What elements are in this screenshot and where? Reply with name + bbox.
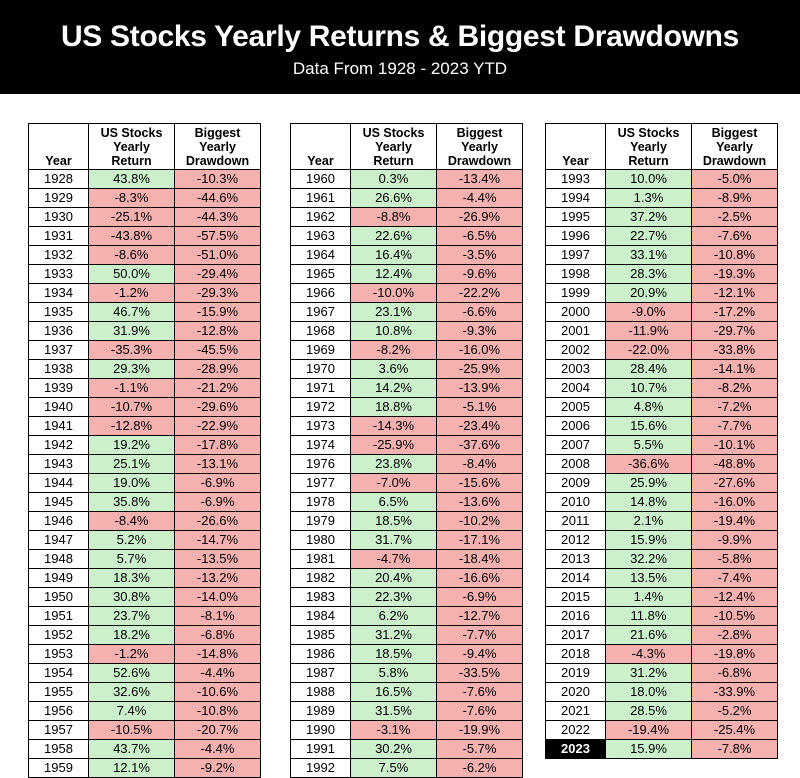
year-cell: 2013 [546,550,606,569]
yearly-return-cell: -1.2% [89,284,175,303]
year-cell: 1981 [291,550,351,569]
returns-table-3: YearUS StocksYearlyReturnBiggestYearlyDr… [545,123,778,759]
year-cell: 1970 [291,360,351,379]
year-cell: 2008 [546,455,606,474]
biggest-drawdown-cell: -22.2% [437,284,523,303]
yearly-return-cell: 46.7% [89,303,175,322]
yearly-return-cell: 12.4% [351,265,437,284]
header-line: Yearly [89,140,174,154]
table-row: 20054.8%-7.2% [546,398,778,417]
year-cell: 1974 [291,436,351,455]
year-cell: 1983 [291,588,351,607]
year-cell: 1980 [291,531,351,550]
page-title: US Stocks Yearly Returns & Biggest Drawd… [61,20,739,53]
table-row: 197918.5%-10.2% [291,512,523,531]
table-row: 1990-3.1%-19.9% [291,721,523,740]
yearly-return-cell: -8.2% [351,341,437,360]
year-cell: 1953 [29,645,89,664]
yearly-return-cell: -35.3% [89,341,175,360]
year-cell: 2014 [546,569,606,588]
yearly-return-cell: -36.6% [606,455,692,474]
year-cell: 1946 [29,512,89,531]
biggest-drawdown-cell: -10.8% [175,702,261,721]
year-cell: 2015 [546,588,606,607]
biggest-drawdown-cell: -25.9% [437,360,523,379]
year-cell: 1956 [29,702,89,721]
yearly-return-cell: 33.1% [606,246,692,265]
year-cell: 1979 [291,512,351,531]
yearly-return-cell: 22.6% [351,227,437,246]
year-cell: 1957 [29,721,89,740]
yearly-return-cell: 16.5% [351,683,437,702]
table-row: 1930-25.1%-44.3% [29,208,261,227]
biggest-drawdown-cell: -5.1% [437,398,523,417]
biggest-drawdown-cell: -12.7% [437,607,523,626]
table-row: 201931.2%-6.8% [546,664,778,683]
biggest-drawdown-cell: -9.6% [437,265,523,284]
biggest-drawdown-cell: -8.2% [692,379,778,398]
biggest-drawdown-cell: -26.6% [175,512,261,531]
table-row: 1932-8.6%-51.0% [29,246,261,265]
biggest-drawdown-cell: -7.8% [692,740,778,759]
yearly-return-cell: 23.8% [351,455,437,474]
biggest-drawdown-cell: -7.6% [437,702,523,721]
header-banner: US Stocks Yearly Returns & Biggest Drawd… [0,0,800,94]
table-row: 193829.3%-28.9% [29,360,261,379]
year-cell: 1973 [291,417,351,436]
year-cell: 1932 [29,246,89,265]
biggest-drawdown-cell: -20.7% [175,721,261,740]
biggest-drawdown-cell: -9.9% [692,531,778,550]
year-cell: 1949 [29,569,89,588]
yearly-return-cell: -25.9% [351,436,437,455]
biggest-drawdown-cell: -26.9% [437,208,523,227]
yearly-return-cell: 15.9% [606,740,692,759]
yearly-return-cell: 29.3% [89,360,175,379]
yearly-return-cell: 5.8% [351,664,437,683]
year-cell: 2005 [546,398,606,417]
biggest-drawdown-cell: -10.6% [175,683,261,702]
yearly-return-cell: 19.0% [89,474,175,493]
biggest-drawdown-cell: -14.1% [692,360,778,379]
biggest-drawdown-cell: -4.4% [175,740,261,759]
table-row: 198322.3%-6.9% [291,588,523,607]
biggest-drawdown-cell: -16.0% [437,341,523,360]
header-line: Biggest [175,126,260,140]
year-cell: 2000 [546,303,606,322]
table-row: 198220.4%-16.6% [291,569,523,588]
biggest-drawdown-cell: -7.6% [692,227,778,246]
year-cell: 1984 [291,607,351,626]
table-row: 20112.1%-19.4% [546,512,778,531]
table-row: 2018-4.3%-19.8% [546,645,778,664]
yearly-return-cell: 22.7% [606,227,692,246]
yearly-return-cell: 43.7% [89,740,175,759]
year-cell: 1931 [29,227,89,246]
yearly-return-cell: 18.3% [89,569,175,588]
yearly-return-cell: 7.4% [89,702,175,721]
biggest-drawdown-cell: -16.6% [437,569,523,588]
table-row: 193631.9%-12.8% [29,322,261,341]
table-row: 198618.5%-9.4% [291,645,523,664]
biggest-drawdown-cell: -10.8% [692,246,778,265]
table-header-row: YearUS StocksYearlyReturnBiggestYearlyDr… [546,124,778,170]
year-cell: 2020 [546,683,606,702]
biggest-drawdown-cell: -9.4% [437,645,523,664]
yearly-return-cell: 20.9% [606,284,692,303]
biggest-drawdown-cell: -19.9% [437,721,523,740]
year-cell: 1929 [29,189,89,208]
yearly-return-cell: -22.0% [606,341,692,360]
biggest-drawdown-cell: -5.2% [692,702,778,721]
yearly-return-cell: 19.2% [89,436,175,455]
table-row: 19567.4%-10.8% [29,702,261,721]
table-row: 192843.8%-10.3% [29,170,261,189]
year-cell: 1965 [291,265,351,284]
yearly-return-cell: 1.4% [606,588,692,607]
yearly-return-cell: -11.9% [606,322,692,341]
biggest-drawdown-cell: -5.7% [437,740,523,759]
biggest-drawdown-cell: -10.2% [437,512,523,531]
year-cell: 2003 [546,360,606,379]
yearly-return-cell: 32.2% [606,550,692,569]
year-cell: 1948 [29,550,89,569]
year-cell: 1962 [291,208,351,227]
biggest-drawdown-cell: -23.4% [437,417,523,436]
yearly-return-cell: -10.5% [89,721,175,740]
year-cell: 1966 [291,284,351,303]
biggest-drawdown-cell: -5.8% [692,550,778,569]
table-row: 193350.0%-29.4% [29,265,261,284]
biggest-drawdown-cell: -6.8% [175,626,261,645]
table-header-row: YearUS StocksYearlyReturnBiggestYearlyDr… [29,124,261,170]
biggest-drawdown-cell: -28.9% [175,360,261,379]
year-cell: 2012 [546,531,606,550]
table-row: 198031.7%-17.1% [291,531,523,550]
table-row: 1941-12.8%-22.9% [29,417,261,436]
biggest-drawdown-cell: -7.4% [692,569,778,588]
year-cell: 1930 [29,208,89,227]
table-row: 196810.8%-9.3% [291,322,523,341]
returns-table-2: YearUS StocksYearlyReturnBiggestYearlyDr… [290,123,523,778]
table-row: 198816.5%-7.6% [291,683,523,702]
table-row: 195912.1%-9.2% [29,759,261,778]
tables-area: YearUS StocksYearlyReturnBiggestYearlyDr… [0,94,800,768]
table-row: 20151.4%-12.4% [546,588,778,607]
table-row: 1940-10.7%-29.6% [29,398,261,417]
year-cell: 1988 [291,683,351,702]
year-cell: 2010 [546,493,606,512]
yearly-return-cell: 23.1% [351,303,437,322]
header-line: Return [606,154,691,168]
table-row: 200410.7%-8.2% [546,379,778,398]
table-row: 19941.3%-8.9% [546,189,778,208]
table-row: 1969-8.2%-16.0% [291,341,523,360]
yearly-return-cell: 1.3% [606,189,692,208]
biggest-drawdown-cell: -2.8% [692,626,778,645]
year-cell: 1997 [546,246,606,265]
table-row: 19846.2%-12.7% [291,607,523,626]
table-row: 19600.3%-13.4% [291,170,523,189]
biggest-drawdown-cell: -4.4% [437,189,523,208]
yearly-return-cell: 6.5% [351,493,437,512]
year-cell: 1989 [291,702,351,721]
biggest-drawdown-cell: -44.6% [175,189,261,208]
yearly-return-cell: 7.5% [351,759,437,778]
column-header-yearly-return: US StocksYearlyReturn [606,124,692,170]
biggest-drawdown-cell: -12.1% [692,284,778,303]
year-cell: 1971 [291,379,351,398]
table-row: 202128.5%-5.2% [546,702,778,721]
biggest-drawdown-cell: -13.9% [437,379,523,398]
yearly-return-cell: 28.4% [606,360,692,379]
year-cell: 1952 [29,626,89,645]
biggest-drawdown-cell: -13.5% [175,550,261,569]
table-row: 199130.2%-5.7% [291,740,523,759]
yearly-return-cell: 16.4% [351,246,437,265]
year-cell: 1961 [291,189,351,208]
yearly-return-cell: -12.8% [89,417,175,436]
table-row: 198931.5%-7.6% [291,702,523,721]
biggest-drawdown-cell: -14.8% [175,645,261,664]
table-row: 1931-43.8%-57.5% [29,227,261,246]
table-row: 199733.1%-10.8% [546,246,778,265]
biggest-drawdown-cell: -33.5% [437,664,523,683]
yearly-return-cell: 30.2% [351,740,437,759]
biggest-drawdown-cell: -19.3% [692,265,778,284]
yearly-return-cell: 15.9% [606,531,692,550]
table-row: 197218.8%-5.1% [291,398,523,417]
table-row: 194535.8%-6.9% [29,493,261,512]
biggest-drawdown-cell: -29.7% [692,322,778,341]
year-cell: 2001 [546,322,606,341]
header-line: Drawdown [692,154,777,168]
year-cell: 1945 [29,493,89,512]
yearly-return-cell: 31.2% [351,626,437,645]
year-cell: 2007 [546,436,606,455]
table-row: 20075.5%-10.1% [546,436,778,455]
year-cell: 2016 [546,607,606,626]
year-cell: 2011 [546,512,606,531]
biggest-drawdown-cell: -7.7% [692,417,778,436]
yearly-return-cell: 18.5% [351,512,437,531]
year-cell: 1959 [29,759,89,778]
table-row: 199920.9%-12.1% [546,284,778,303]
year-cell: 1986 [291,645,351,664]
table-row: 196512.4%-9.6% [291,265,523,284]
yearly-return-cell: 37.2% [606,208,692,227]
biggest-drawdown-cell: -9.3% [437,322,523,341]
year-cell: 1999 [546,284,606,303]
year-cell-current: 2023 [546,740,606,759]
header-line: Biggest [437,126,522,140]
biggest-drawdown-cell: -15.6% [437,474,523,493]
yearly-return-cell: -10.0% [351,284,437,303]
table-row: 19475.2%-14.7% [29,531,261,550]
biggest-drawdown-cell: -13.1% [175,455,261,474]
yearly-return-cell: -8.3% [89,189,175,208]
table-row: 199622.7%-7.6% [546,227,778,246]
column-header-yearly-return: US StocksYearlyReturn [89,124,175,170]
yearly-return-cell: 10.7% [606,379,692,398]
yearly-return-cell: 6.2% [351,607,437,626]
yearly-return-cell: 11.8% [606,607,692,626]
biggest-drawdown-cell: -48.8% [692,455,778,474]
table-row: 1946-8.4%-26.6% [29,512,261,531]
biggest-drawdown-cell: -45.5% [175,341,261,360]
yearly-return-cell: -25.1% [89,208,175,227]
yearly-return-cell: 31.2% [606,664,692,683]
year-cell: 1976 [291,455,351,474]
table-row: 196416.4%-3.5% [291,246,523,265]
year-cell: 1944 [29,474,89,493]
year-cell: 1958 [29,740,89,759]
biggest-drawdown-cell: -25.4% [692,721,778,740]
biggest-drawdown-cell: -7.7% [437,626,523,645]
table-row: 195452.6%-4.4% [29,664,261,683]
table-row: 19875.8%-33.5% [291,664,523,683]
yearly-return-cell: 14.8% [606,493,692,512]
table-row: 1934-1.2%-29.3% [29,284,261,303]
table-row: 193546.7%-15.9% [29,303,261,322]
table-row: 1974-25.9%-37.6% [291,436,523,455]
table-row: 194219.2%-17.8% [29,436,261,455]
yearly-return-cell: -8.6% [89,246,175,265]
biggest-drawdown-cell: -12.4% [692,588,778,607]
biggest-drawdown-cell: -13.6% [437,493,523,512]
table-row: 201413.5%-7.4% [546,569,778,588]
yearly-return-cell: -19.4% [606,721,692,740]
table-row: 194918.3%-13.2% [29,569,261,588]
table-row: 200925.9%-27.6% [546,474,778,493]
column-header-year: Year [29,124,89,170]
biggest-drawdown-cell: -6.2% [437,759,523,778]
yearly-return-cell: 26.6% [351,189,437,208]
yearly-return-cell: 3.6% [351,360,437,379]
table-row: 200615.6%-7.7% [546,417,778,436]
biggest-drawdown-cell: -3.5% [437,246,523,265]
year-cell: 1963 [291,227,351,246]
yearly-return-cell: 22.3% [351,588,437,607]
yearly-return-cell: 31.5% [351,702,437,721]
yearly-return-cell: 43.8% [89,170,175,189]
yearly-return-cell: 32.6% [89,683,175,702]
year-cell: 1964 [291,246,351,265]
year-cell: 1933 [29,265,89,284]
yearly-return-cell: 18.5% [351,645,437,664]
yearly-return-cell: 23.7% [89,607,175,626]
table-row: 2000-9.0%-17.2% [546,303,778,322]
yearly-return-cell: -1.2% [89,645,175,664]
yearly-return-cell: 4.8% [606,398,692,417]
biggest-drawdown-cell: -29.4% [175,265,261,284]
year-cell: 1993 [546,170,606,189]
year-cell: 2006 [546,417,606,436]
yearly-return-cell: -1.1% [89,379,175,398]
biggest-drawdown-cell: -8.9% [692,189,778,208]
year-cell: 2022 [546,721,606,740]
table-row: 195532.6%-10.6% [29,683,261,702]
table-row: 1981-4.7%-18.4% [291,550,523,569]
biggest-drawdown-cell: -5.0% [692,170,778,189]
table-row: 1962-8.8%-26.9% [291,208,523,227]
table-row: 194419.0%-6.9% [29,474,261,493]
year-cell: 1994 [546,189,606,208]
yearly-return-cell: 25.9% [606,474,692,493]
year-cell: 1998 [546,265,606,284]
column-header-biggest-drawdown: BiggestYearlyDrawdown [437,124,523,170]
header-line: Drawdown [437,154,522,168]
yearly-return-cell: 21.6% [606,626,692,645]
biggest-drawdown-cell: -22.9% [175,417,261,436]
yearly-return-cell: 14.2% [351,379,437,398]
biggest-drawdown-cell: -8.4% [437,455,523,474]
yearly-return-cell: 52.6% [89,664,175,683]
biggest-drawdown-cell: -6.9% [175,493,261,512]
year-cell: 2004 [546,379,606,398]
table-row: 2002-22.0%-33.8% [546,341,778,360]
table-row: 2022-19.4%-25.4% [546,721,778,740]
biggest-drawdown-cell: -10.5% [692,607,778,626]
header-line: Yearly [692,140,777,154]
year-cell: 1969 [291,341,351,360]
yearly-return-cell: -7.0% [351,474,437,493]
yearly-return-cell: 13.5% [606,569,692,588]
column-header-biggest-drawdown: BiggestYearlyDrawdown [175,124,261,170]
year-cell: 1982 [291,569,351,588]
table-row: 201721.6%-2.8% [546,626,778,645]
year-cell: 1954 [29,664,89,683]
year-cell: 1943 [29,455,89,474]
yearly-return-cell: 25.1% [89,455,175,474]
year-cell: 1950 [29,588,89,607]
table-row: 198531.2%-7.7% [291,626,523,645]
biggest-drawdown-cell: -27.6% [692,474,778,493]
yearly-return-cell: 30.8% [89,588,175,607]
biggest-drawdown-cell: -17.2% [692,303,778,322]
table-row: 1929-8.3%-44.6% [29,189,261,208]
biggest-drawdown-cell: -33.9% [692,683,778,702]
year-cell: 1947 [29,531,89,550]
yearly-return-cell: 18.8% [351,398,437,417]
column-header-year: Year [546,124,606,170]
year-cell: 1955 [29,683,89,702]
page-subtitle: Data From 1928 - 2023 YTD [293,60,507,79]
table-row: 202018.0%-33.9% [546,683,778,702]
yearly-return-cell: 2.1% [606,512,692,531]
table-row: 195218.2%-6.8% [29,626,261,645]
yearly-return-cell: 0.3% [351,170,437,189]
biggest-drawdown-cell: -15.9% [175,303,261,322]
table-row: 197114.2%-13.9% [291,379,523,398]
table-row: 202315.9%-7.8% [546,740,778,759]
year-cell: 2017 [546,626,606,645]
table-row: 196126.6%-4.4% [291,189,523,208]
column-header-biggest-drawdown: BiggestYearlyDrawdown [692,124,778,170]
year-cell: 1937 [29,341,89,360]
year-cell: 1935 [29,303,89,322]
yearly-return-cell: -3.1% [351,721,437,740]
biggest-drawdown-cell: -51.0% [175,246,261,265]
yearly-return-cell: 28.5% [606,702,692,721]
table-row: 199537.2%-2.5% [546,208,778,227]
yearly-return-cell: -14.3% [351,417,437,436]
table-row: 1937-35.3%-45.5% [29,341,261,360]
table-header-row: YearUS StocksYearlyReturnBiggestYearlyDr… [291,124,523,170]
biggest-drawdown-cell: -17.8% [175,436,261,455]
yearly-return-cell: -8.4% [89,512,175,531]
year-cell: 1977 [291,474,351,493]
